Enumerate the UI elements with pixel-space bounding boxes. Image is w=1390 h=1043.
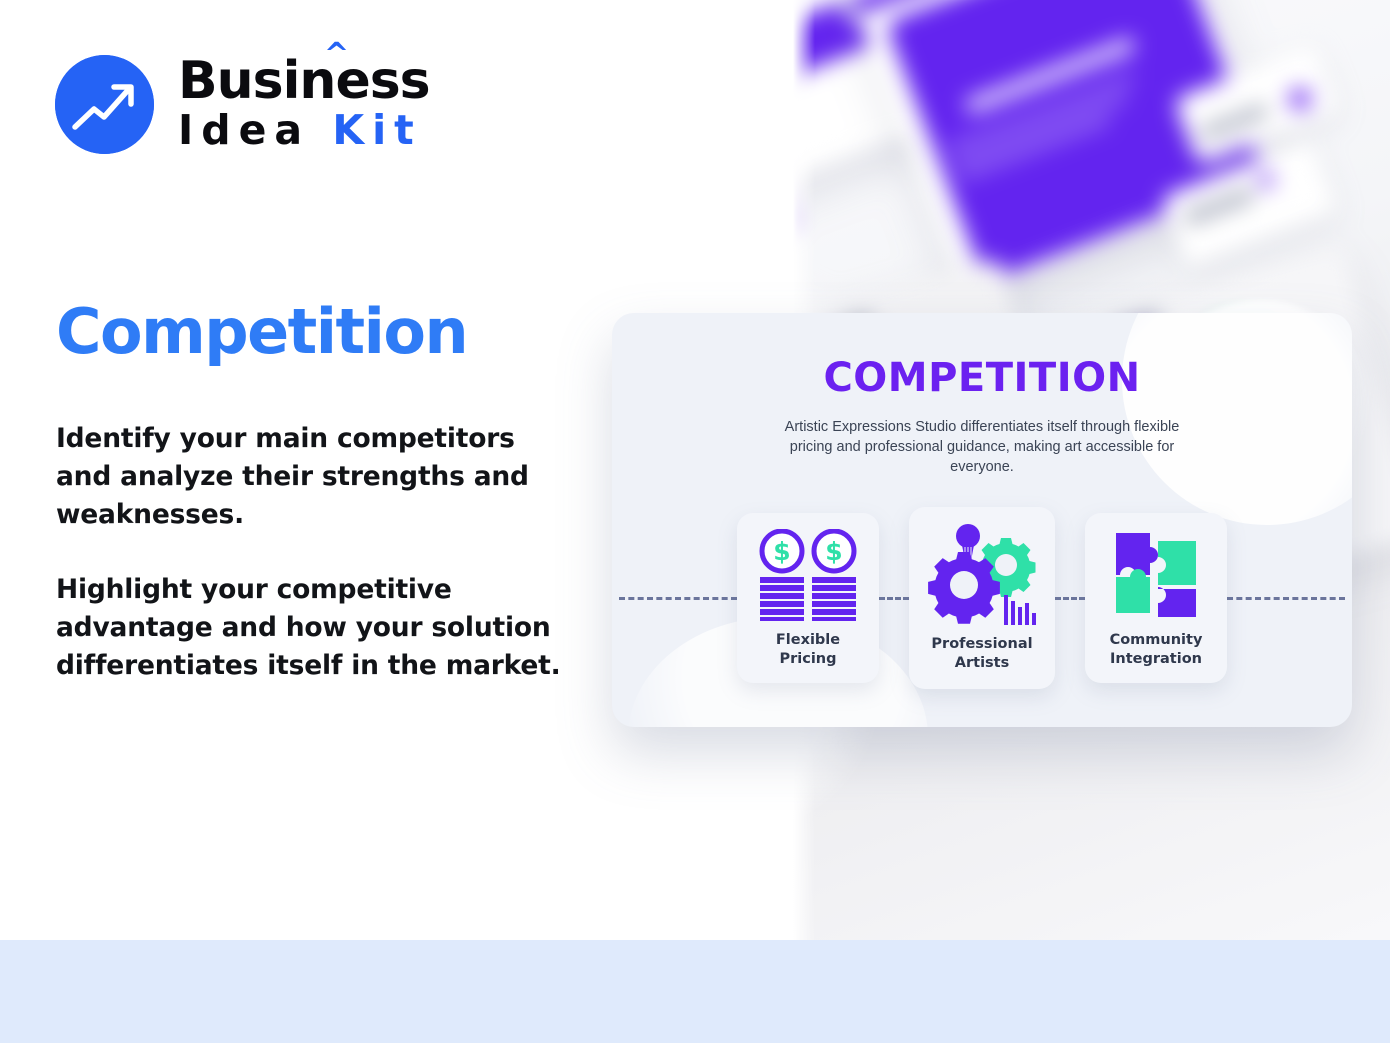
description-paragraph-2: Highlight your competitive advantage and… — [56, 571, 576, 685]
growth-arrow-icon — [55, 55, 154, 154]
brand-wordmark: Business ^ Idea Kit — [178, 57, 430, 151]
slide-root: Business ^ Idea Kit Competition Identify… — [0, 0, 1390, 1043]
svg-text:$: $ — [773, 537, 790, 566]
feature-label-community-integration: Community Integration — [1110, 631, 1203, 669]
brand-line-1-text: Business — [178, 51, 430, 111]
coin-stacks-icon: $ $ — [756, 527, 860, 623]
bg-slide-dot-d — [1258, 172, 1274, 188]
slide-title: COMPETITION — [612, 355, 1352, 401]
growth-arrow-glyph — [55, 55, 154, 154]
brand-line-2-text: Idea — [178, 106, 332, 154]
coin-stacks-glyph: $ $ — [756, 529, 860, 621]
feature-label-line-1: Professional — [931, 636, 1032, 652]
page-title: Competition — [56, 295, 467, 368]
feature-row: $ $ — [612, 503, 1352, 693]
feature-card-community-integration[interactable]: Community Integration — [1085, 513, 1227, 683]
svg-text:$: $ — [825, 537, 842, 566]
connector-dash-right — [1227, 597, 1345, 600]
brand-line-2: Idea Kit — [178, 109, 430, 152]
connector-dash-mid-left — [879, 597, 909, 600]
slide-description: Artistic Expressions Studio differentiat… — [782, 417, 1182, 477]
feature-label-professional-artists: Professional Artists — [931, 635, 1032, 673]
bg-slide-dot-c — [1289, 88, 1311, 110]
brand-logo: Business ^ Idea Kit — [55, 55, 430, 154]
competition-slide-preview[interactable]: COMPETITION Artistic Expressions Studio … — [612, 313, 1352, 727]
connector-dash-left — [619, 597, 737, 600]
brand-hat-accent-icon: ^ — [324, 41, 348, 70]
feature-label-line-2: Pricing — [779, 651, 836, 667]
connector-dash-mid-right — [1055, 597, 1085, 600]
feature-card-professional-artists[interactable]: Professional Artists — [909, 507, 1055, 689]
bottom-accent-band — [0, 940, 1390, 1043]
feature-label-line-2: Integration — [1110, 651, 1202, 667]
puzzle-pieces-glyph — [1110, 529, 1202, 621]
feature-label-line-1: Flexible — [776, 632, 840, 648]
description-paragraph-1: Identify your main competitors and analy… — [56, 420, 576, 534]
feature-label-line-2: Artists — [955, 655, 1009, 671]
feature-label-line-1: Community — [1110, 632, 1203, 648]
puzzle-pieces-icon — [1110, 527, 1202, 623]
brand-line-1: Business ^ — [178, 57, 430, 106]
feature-label-flexible-pricing: Flexible Pricing — [776, 631, 840, 669]
feature-card-flexible-pricing[interactable]: $ $ — [737, 513, 879, 683]
gears-lightbulb-chart-glyph — [928, 523, 1036, 627]
brand-line-2-accent: Kit — [332, 106, 421, 154]
gears-lightbulb-chart-icon — [928, 523, 1036, 627]
